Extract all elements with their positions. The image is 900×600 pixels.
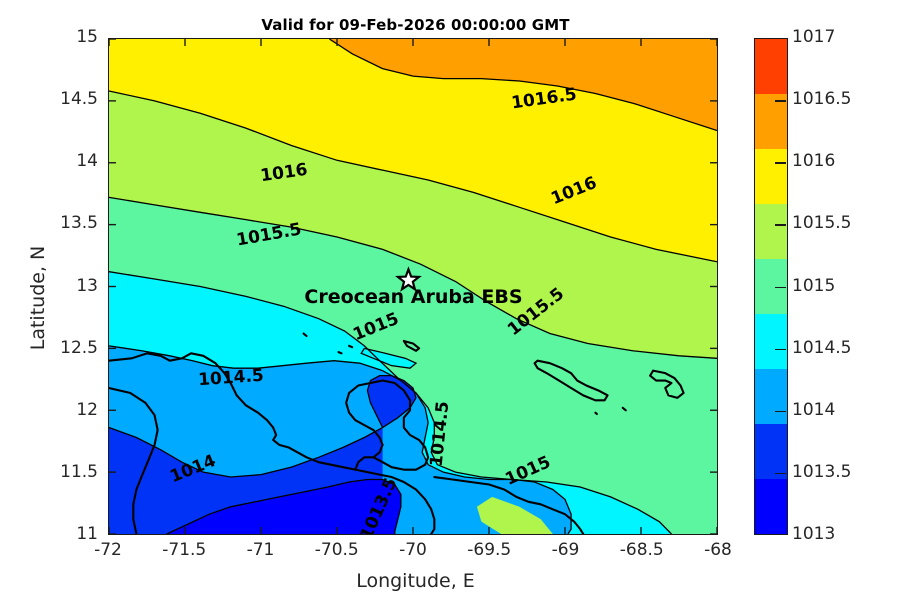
colorbar-tick-label: 1016.5 [792, 89, 851, 109]
x-tick-label: -71 [221, 540, 301, 560]
station-label: Creocean Aruba EBS [304, 286, 522, 308]
colorbar-tick-label: 1014.5 [792, 338, 851, 358]
colorbar-band [755, 39, 787, 94]
colorbar-band [755, 369, 787, 424]
colorbar-band [755, 314, 787, 369]
x-tick-label: -68 [678, 540, 758, 560]
y-tick-label: 11.5 [36, 462, 98, 482]
colorbar-tick-mark [775, 411, 786, 413]
colorbar-tick-label: 1014 [792, 400, 835, 420]
chart-title: Valid for 09-Feb-2026 00:00:00 GMT [108, 16, 723, 34]
x-tick-label: -68.5 [602, 540, 682, 560]
contour-plot-area: 1016.5101610161015.51015.5101510151014.5… [108, 38, 718, 535]
y-tick-label: 11 [36, 524, 98, 544]
colorbar-band [755, 204, 787, 259]
x-tick-label: -70.5 [297, 540, 377, 560]
y-tick-label: 15 [36, 27, 98, 47]
colorbar-band [755, 94, 787, 149]
colorbar-tick-mark [775, 224, 786, 226]
colorbar-tick-label: 1016 [792, 151, 835, 171]
y-axis-label: Latitude, N [27, 168, 49, 428]
colorbar-tick-label: 1013 [792, 524, 835, 544]
colorbar-band [755, 479, 787, 534]
y-tick-label: 14.5 [36, 89, 98, 109]
colorbar-tick-label: 1015.5 [792, 213, 851, 233]
x-axis-label: Longitude, E [108, 570, 723, 592]
colorbar-tick-mark [775, 100, 786, 102]
colorbar-band [755, 149, 787, 204]
colorbar-tick-label: 1015 [792, 276, 835, 296]
colorbar-tick-label: 1013.5 [792, 462, 851, 482]
colorbar-tick-mark [775, 473, 786, 475]
x-tick-label: -70 [373, 540, 453, 560]
figure-root: Valid for 09-Feb-2026 00:00:00 GMT 1016.… [0, 0, 900, 600]
x-tick-label: -69.5 [449, 540, 529, 560]
colorbar-tick-label: 1017 [792, 27, 835, 47]
x-tick-label: -71.5 [144, 540, 224, 560]
x-tick-label: -69 [526, 540, 606, 560]
colorbar-tick-mark [775, 349, 786, 351]
colorbar-tick-mark [775, 287, 786, 289]
colorbar-tick-mark [775, 162, 786, 164]
colorbar-band [755, 424, 787, 479]
